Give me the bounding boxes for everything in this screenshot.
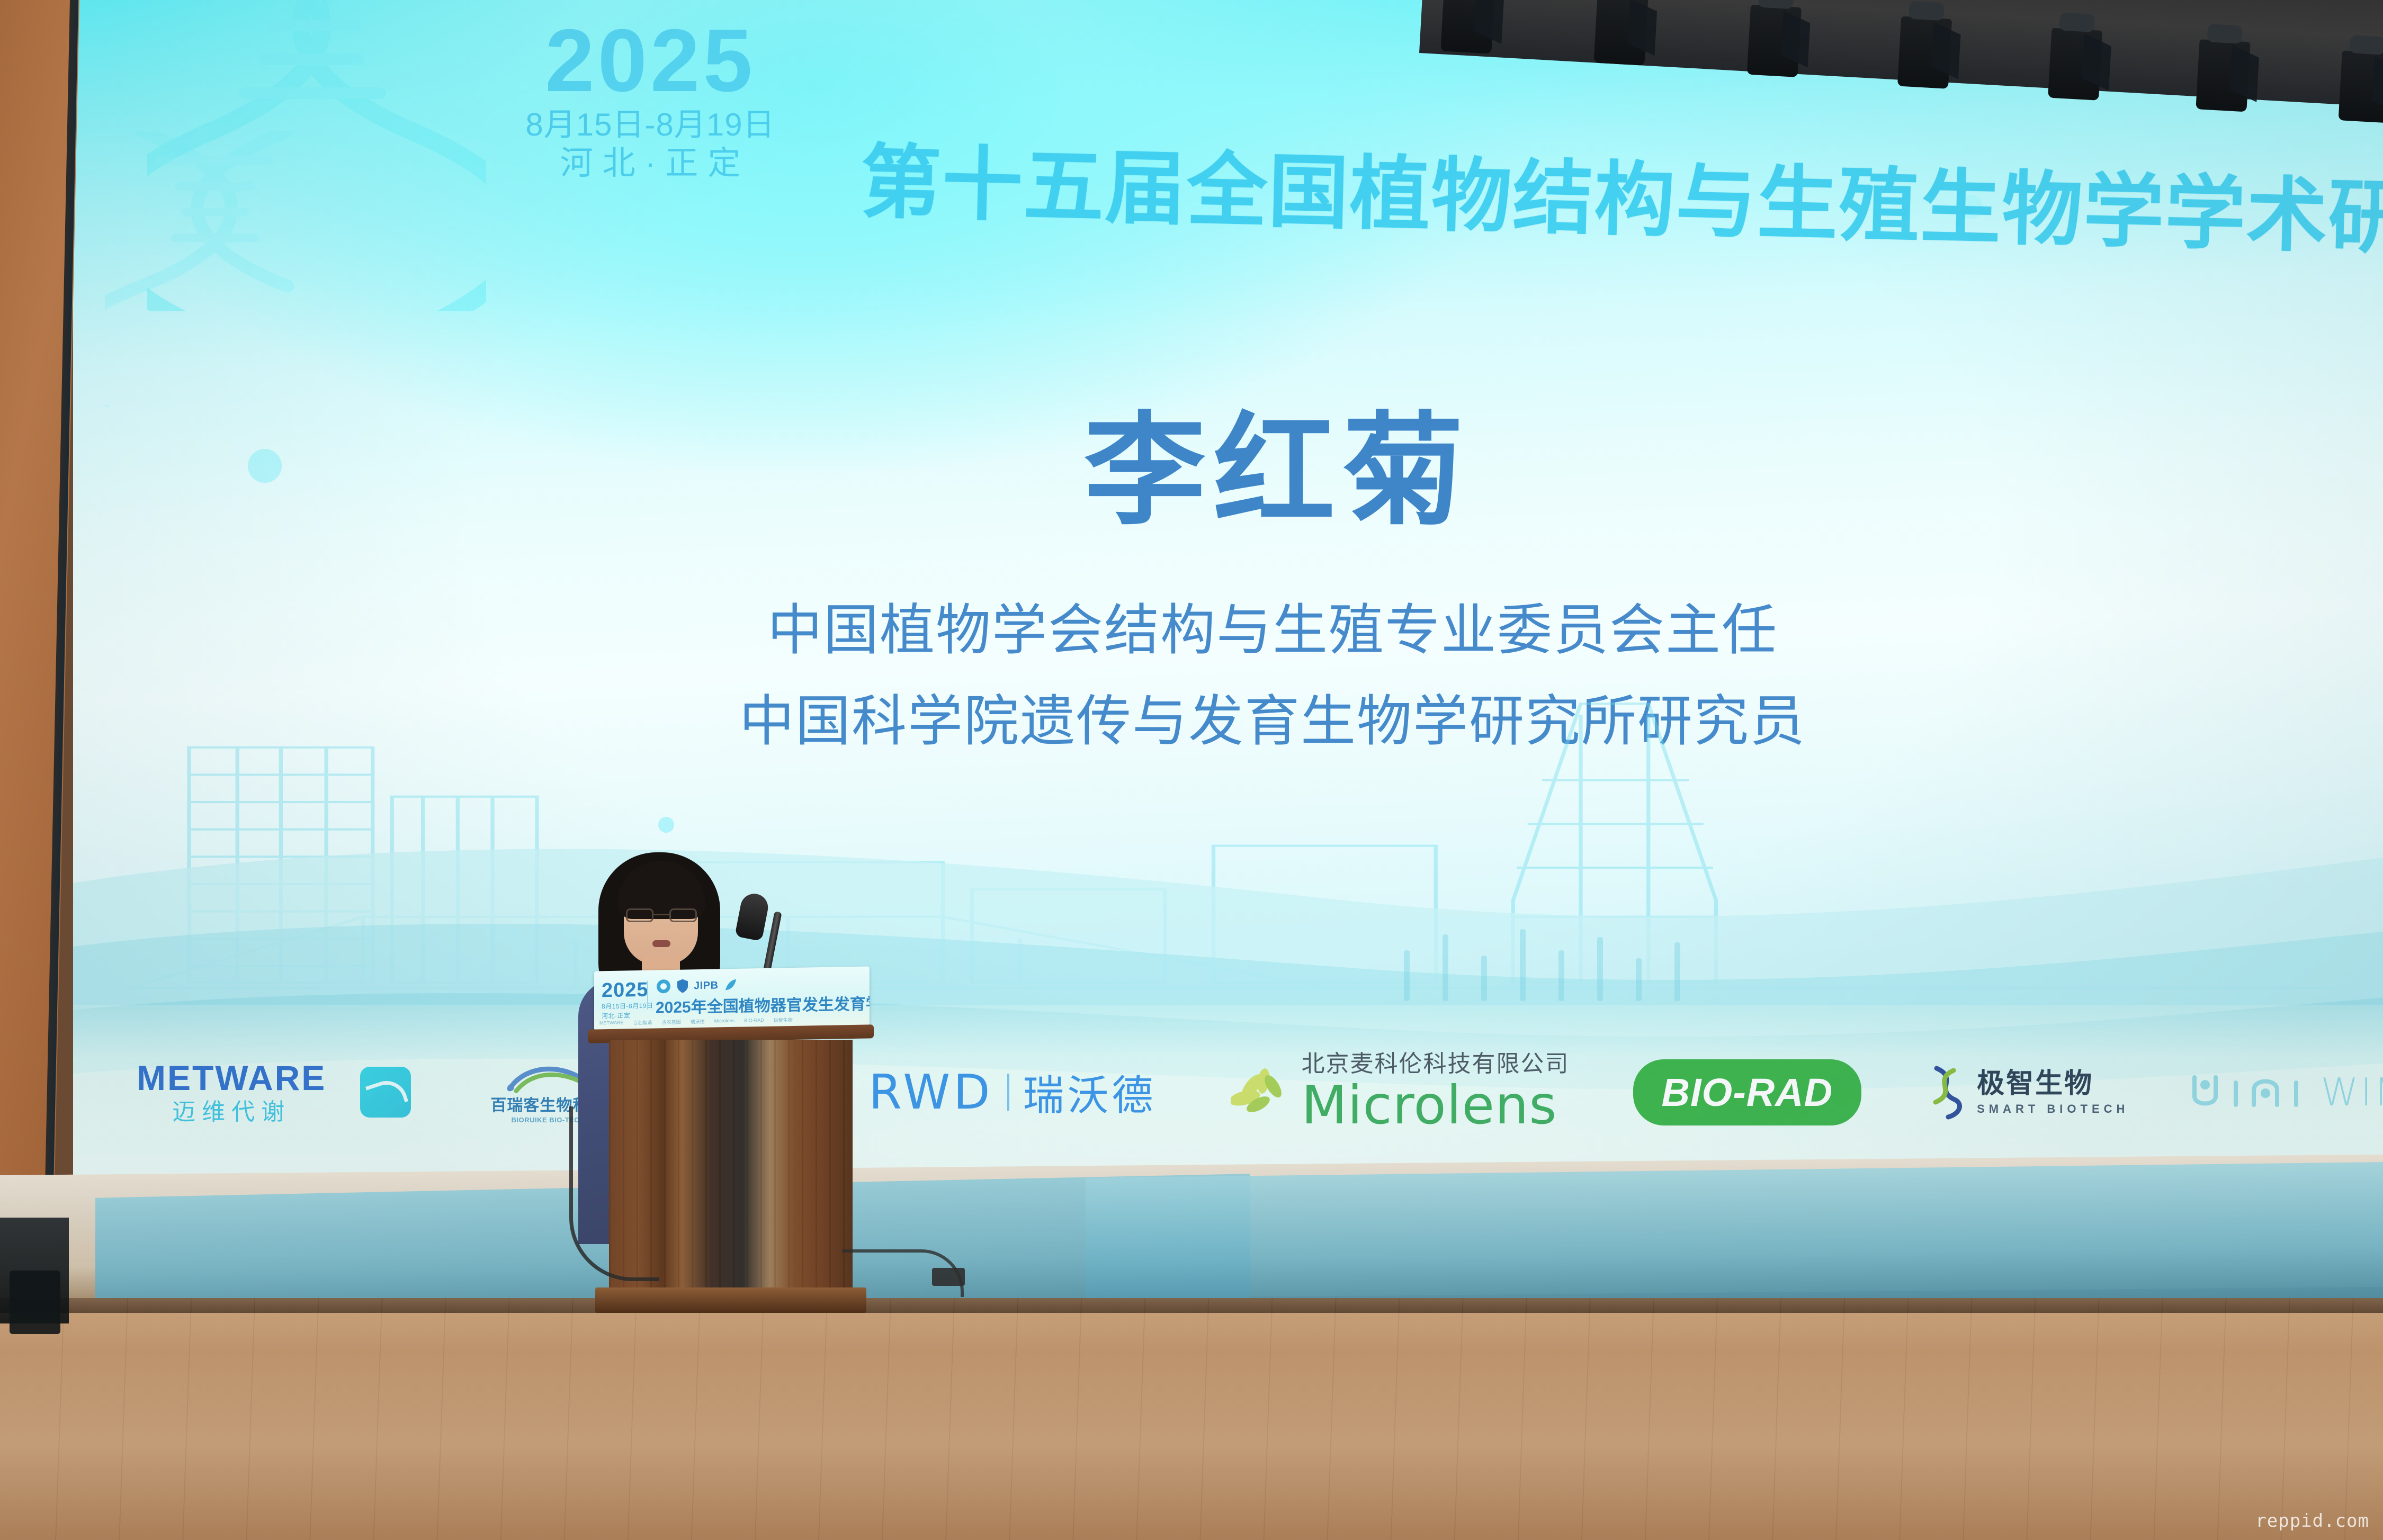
- wimi-mark-icon: [2187, 1067, 2309, 1118]
- microlens-cn: 北京麦科伦科技有限公司: [1302, 1052, 1570, 1076]
- floor-equipment-box: [932, 1268, 965, 1286]
- stage-light: [2196, 39, 2250, 112]
- microlens-en: Microlens: [1302, 1079, 1570, 1132]
- stage-equipment-left: [10, 1271, 60, 1334]
- podium-sign: 2025 8月15日-8月19日 河北·正定 JIPB: [594, 966, 870, 1030]
- slide-year: 2025: [497, 16, 804, 105]
- sponsor-logo-aquatic[interactable]: [326, 1067, 411, 1118]
- smart-biotech-cn: 极智生物: [1977, 1069, 2129, 1099]
- speaker-name: 李红菊: [73, 407, 2383, 536]
- glasses-icon: [626, 908, 697, 922]
- podium-sign-year: 2025: [602, 980, 649, 1001]
- stage-wood-grain: [0, 1298, 2383, 1540]
- stage-light: [1747, 5, 1802, 77]
- jipb-logo: JIPB: [694, 979, 718, 992]
- sponsor-logo-microlens[interactable]: 北京麦科伦科技有限公司 Microlens: [1231, 1052, 1570, 1132]
- stage-light: [1593, 0, 1648, 66]
- rwd-en: RWD: [868, 1065, 993, 1120]
- rwd-divider: [1007, 1074, 1009, 1111]
- stage-light: [2048, 28, 2102, 101]
- conference-stage-scene: 2025 8月15日-8月19日 河北·正定 第十五届全国植物结构与生殖生物学学…: [0, 0, 2383, 1540]
- stage-light: [1897, 16, 1952, 89]
- stage-mat-right: [1086, 1162, 2383, 1316]
- slide-date-block: 2025 8月15日-8月19日 河北·正定: [497, 16, 804, 180]
- stage-light: [1440, 0, 1495, 54]
- slide-location: 河北·正定: [497, 147, 804, 180]
- speaker-affiliation-1: 中国植物学会结构与生殖专业委员会主任: [73, 596, 2383, 665]
- shield-icon: [677, 978, 688, 993]
- aquatic-square-icon: [360, 1067, 411, 1118]
- metware-cn: 迈维代谢: [172, 1101, 291, 1124]
- sponsor-logo-biorad[interactable]: BIO-RAD: [1633, 1059, 1862, 1125]
- podium-sign-divider: [647, 981, 648, 1010]
- society-seal-icon: [656, 978, 671, 995]
- helix-ribbon-icon: [1925, 1063, 1967, 1121]
- slide-date-range: 8月15日-8月19日: [497, 109, 804, 141]
- stage-light: [2339, 50, 2383, 123]
- wimi-en: WIMI: [2321, 1070, 2383, 1114]
- smart-biotech-en: SMART BIOTECH: [1977, 1103, 2129, 1115]
- leaf-burst-icon: [1231, 1065, 1294, 1129]
- watermark: reppid.com: [2255, 1510, 2369, 1532]
- rwd-cn: 瑞沃德: [1023, 1062, 1157, 1122]
- sponsor-logo-wimi[interactable]: WIMI 未米: [2187, 1067, 2383, 1118]
- sponsor-logo-metware[interactable]: METWARE 迈维代谢: [137, 1060, 326, 1124]
- audio-cable: [569, 1106, 659, 1281]
- sponsor-logo-strip: METWARE 迈维代谢 百瑞客生物科技 BIORUIKE BIO-TECH: [73, 1005, 2383, 1179]
- sponsor-logo-rwd[interactable]: RWD 瑞沃德: [868, 1062, 1156, 1122]
- biorad-en: BIO-RAD: [1633, 1059, 1862, 1125]
- dna-helix-secondary-icon: [105, 131, 333, 407]
- leaf-icon: [723, 978, 737, 992]
- metware-en: METWARE: [137, 1060, 326, 1095]
- led-presentation-screen: 2025 8月15日-8月19日 河北·正定 第十五届全国植物结构与生殖生物学学…: [73, 0, 2383, 1179]
- podium-base: [595, 1287, 866, 1313]
- mouth: [652, 940, 670, 947]
- conference-title: 第十五届全国植物结构与生殖生物学学术研讨会: [859, 116, 2383, 272]
- podium-sign-date: 8月15日-8月19日: [602, 1001, 653, 1012]
- sponsor-logo-smart-biotech[interactable]: 极智生物 SMART BIOTECH: [1925, 1063, 2129, 1121]
